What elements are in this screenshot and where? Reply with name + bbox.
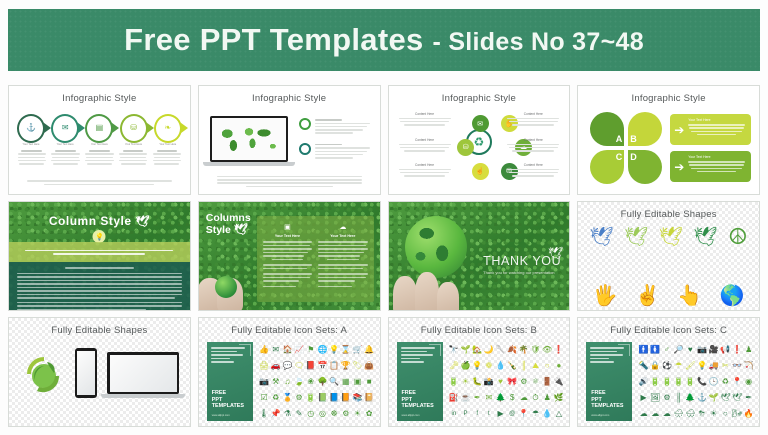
slide-thumbnail-infographic-recycle[interactable]: Infographic Style ♻ ✉ ✋ ⛁ ☁ ☝ ⛁ Content … xyxy=(388,85,571,195)
eco-globe-leaf-icon[interactable] xyxy=(23,354,63,394)
cloud3-icon[interactable]: ☁ xyxy=(640,410,648,418)
printer-icon[interactable]: 🖨 xyxy=(259,362,269,370)
wing-icon[interactable]: 🕊 xyxy=(732,394,742,402)
step-item[interactable]: ⛁ Your Text Here xyxy=(120,113,148,143)
sprout-icon[interactable]: 🌱 xyxy=(461,346,471,354)
header-banner: Free PPT Templates - Slides No 37~48 xyxy=(8,9,760,71)
bulb2-icon[interactable]: 💡 xyxy=(472,362,482,370)
open-hands-icon[interactable]: 🖐 xyxy=(593,283,618,308)
battery6-icon[interactable]: 🔋 xyxy=(685,378,695,386)
pointing-hand-icon[interactable]: 👆 xyxy=(677,283,702,308)
grid-icon[interactable]: ▦ xyxy=(342,378,350,386)
heart-icon[interactable]: ♥ xyxy=(498,378,503,386)
cloud-icon: ☁ xyxy=(318,223,367,231)
mail2-icon[interactable]: ✉ xyxy=(486,394,493,402)
tree2-icon[interactable]: 🌲 xyxy=(496,394,506,402)
book5-icon[interactable]: 📚 xyxy=(352,394,362,402)
chart-icon[interactable]: 📈 xyxy=(294,346,304,354)
clipboard-icon[interactable]: 📋 xyxy=(329,362,339,370)
laptop-icon xyxy=(210,116,288,166)
free-ppt-templates-label: FREEPPTTEMPLATES xyxy=(402,390,434,410)
storm-icon[interactable]: ⛈ xyxy=(699,410,705,418)
gear-icon[interactable]: ⚙ xyxy=(296,394,303,402)
free-ppt-panel: FREEPPTTEMPLATES www.allppt.com xyxy=(586,342,632,421)
content-box-1[interactable]: ➔ Your Text Here xyxy=(670,114,751,145)
mail-icon[interactable]: ✉ xyxy=(272,346,279,354)
pin-icon[interactable]: 📌 xyxy=(271,410,281,418)
hands-holding-globe-image xyxy=(198,262,257,311)
dove-icon: 🕊 xyxy=(135,216,149,228)
truck-icon[interactable]: 🚚 xyxy=(709,362,719,370)
megaphone-icon[interactable]: 📢 xyxy=(720,346,730,354)
slide-title: Fully Editable Shapes xyxy=(578,209,759,220)
thermometer-icon[interactable]: 🌡 xyxy=(259,410,269,418)
cloud4-icon[interactable]: ☁ xyxy=(651,410,659,418)
woman-icon[interactable]: 🚺 xyxy=(650,346,660,354)
trophy-icon[interactable]: 🏆 xyxy=(341,362,351,370)
slide-thumbnail-columns-style[interactable]: Columns Style 🕊 ▣ Your Text Here xyxy=(198,201,381,311)
step-description xyxy=(17,150,47,184)
lightbulb-icon[interactable]: 💡 xyxy=(329,346,339,354)
house-icon[interactable]: 🏡 xyxy=(472,346,482,354)
slide-footer-text xyxy=(217,176,362,189)
battery2-icon[interactable]: 🔋 xyxy=(449,378,459,386)
banner-title-sub: - Slides No 37~48 xyxy=(432,28,643,56)
slide-title: Columns Style 🕊 xyxy=(206,212,251,237)
bow-icon[interactable]: 🏹 xyxy=(744,362,754,370)
plant2-icon[interactable]: 🌱 xyxy=(709,394,719,402)
bag-icon[interactable]: 👜 xyxy=(364,362,374,370)
linkedin-icon[interactable]: in xyxy=(452,411,457,417)
icon-set-grid: 🔭 🌱 🏡 🌙 🥄 🍂 🌴 🛡 👁 ❗ 🗝 🍏 💡 ❁ 💧 🍾 ║ ⛰ ○ xyxy=(449,342,565,422)
slide-thumbnail-icon-sets-b[interactable]: Fully Editable Icon Sets: B FREEPPTTEMPL… xyxy=(388,317,571,427)
wind-icon[interactable]: 🌬 xyxy=(732,410,742,418)
magnifier-icon[interactable]: 🔎 xyxy=(674,346,684,354)
cup-icon[interactable]: ☕ xyxy=(461,394,471,402)
dove-light-green-icon[interactable]: 🕊 xyxy=(624,225,648,249)
play-circle-icon[interactable]: ◉ xyxy=(745,378,752,386)
corner-decoration xyxy=(618,344,630,356)
youtube-icon[interactable]: ▶ xyxy=(497,410,503,418)
corner-decoration xyxy=(429,344,441,356)
petal-b[interactable]: B xyxy=(628,112,662,146)
tree-icon[interactable]: 🌳 xyxy=(317,378,327,386)
gear2-icon[interactable]: ⚙ xyxy=(520,378,527,386)
funnel-icon[interactable]: ⚗ xyxy=(284,410,291,418)
apple-icon[interactable]: 🍏 xyxy=(461,362,471,370)
step-label: Your Text Here xyxy=(154,143,182,146)
step-description xyxy=(51,150,81,184)
template-preview-page: Free PPT Templates - Slides No 37~48 Inf… xyxy=(0,0,768,435)
panel-url: www.allppt.com xyxy=(402,414,420,417)
plant-icon[interactable]: 🌿 xyxy=(554,394,564,402)
moon2-icon[interactable]: ○ xyxy=(723,410,728,418)
book2-icon[interactable]: 📗 xyxy=(317,394,327,402)
mail-icon: ✉ xyxy=(62,124,69,132)
bullet-list xyxy=(299,118,370,168)
door-icon[interactable]: 🚪 xyxy=(542,378,552,386)
scissors-icon[interactable]: ✂ xyxy=(722,362,729,370)
flower2-icon[interactable]: ✿ xyxy=(366,410,373,418)
sun2-icon[interactable]: ☀ xyxy=(462,378,469,386)
pen-icon[interactable]: ✒ xyxy=(474,394,481,402)
corner-decoration xyxy=(239,344,251,356)
spoke-text: Content Here xyxy=(399,112,451,127)
fan-icon[interactable]: ❁ xyxy=(486,362,493,370)
step-item[interactable]: ❧ Your Text Here xyxy=(154,113,182,143)
drop-icon[interactable]: 💧 xyxy=(496,362,506,370)
step-item[interactable]: ✉ Your Text Here xyxy=(51,113,79,143)
laptop-icon[interactable] xyxy=(107,352,179,398)
column-icon[interactable]: ║ xyxy=(521,362,527,370)
hands-image xyxy=(389,264,469,311)
video-icon[interactable]: 🎥 xyxy=(709,346,719,354)
person-icon[interactable]: ♟ xyxy=(544,394,551,402)
ring-icon[interactable]: ● xyxy=(556,362,561,370)
book4-icon[interactable]: 📙 xyxy=(341,394,351,402)
calendar-icon[interactable]: 📅 xyxy=(317,362,327,370)
heart2-icon[interactable]: ♥ xyxy=(688,346,693,354)
slide-thumbnail-icon-sets-a[interactable]: Fully Editable Icon Sets: A FREEPPTTEMPL… xyxy=(198,317,381,427)
bubble-icon[interactable]: 🗨 xyxy=(294,362,304,370)
bottle-icon[interactable]: 🍾 xyxy=(507,362,517,370)
image-icon: ▣ xyxy=(263,223,312,231)
checkbox-icon[interactable]: ☑ xyxy=(261,394,268,402)
clover-diagram: A B C D xyxy=(590,112,662,184)
arrow-right-icon: ➔ xyxy=(674,124,684,136)
plug-icon[interactable]: 🔌 xyxy=(554,378,564,386)
column-heading: Your Text Here xyxy=(263,234,312,238)
dove-yellow-green-icon[interactable]: 🕊 xyxy=(659,225,683,249)
hourglass-icon[interactable]: ⌛ xyxy=(341,346,351,354)
alert-icon[interactable]: ❗ xyxy=(732,346,742,354)
ribbon-icon[interactable]: 🎀 xyxy=(507,378,517,386)
clock2-icon[interactable]: 🕒 xyxy=(709,378,719,386)
compass-icon[interactable]: ☸ xyxy=(331,410,338,418)
panel-url: www.allppt.com xyxy=(591,414,609,417)
slide-footer-text xyxy=(27,180,172,187)
play-icon[interactable]: ▶ xyxy=(641,394,647,402)
slide-title: Fully Editable Icon Sets: C xyxy=(578,325,759,336)
battery4-icon[interactable]: 🔋 xyxy=(662,378,672,386)
rain-icon[interactable]: 🌧 xyxy=(674,410,684,418)
cone-icon[interactable]: △ xyxy=(556,410,562,418)
column-heading: Your Text Here xyxy=(318,234,367,238)
spoke-icon[interactable]: ✉ xyxy=(472,115,489,132)
spoke-text: Content Here xyxy=(507,138,559,153)
lamp-icon[interactable]: 💡 xyxy=(697,362,707,370)
petal-a[interactable]: A xyxy=(590,112,624,146)
column-2: ☁ Your Text Here xyxy=(318,223,367,295)
wheel-icon[interactable]: ⚙ xyxy=(342,410,349,418)
eye-icon[interactable]: 👁 xyxy=(542,346,552,354)
slide-title: Fully Editable Icon Sets: A xyxy=(199,325,380,336)
snow-icon[interactable]: 🌨 xyxy=(685,410,695,418)
step-label: Your Text Here xyxy=(85,143,113,146)
spoke-text: Content Here xyxy=(507,163,559,178)
palm-icon[interactable]: 🌴 xyxy=(519,346,529,354)
step-label: Your Text Here xyxy=(120,143,148,146)
free-ppt-templates-label: FREEPPTTEMPLATES xyxy=(591,390,623,410)
atom-icon[interactable]: ⚛ xyxy=(532,378,539,386)
card-icon: ▤ xyxy=(96,124,104,132)
umbrella2-icon[interactable]: ☂ xyxy=(675,362,682,370)
step-description-row xyxy=(17,150,182,184)
thank-you-subtitle: Thank you for watching our presentation xyxy=(483,270,561,275)
sun3-icon[interactable]: ☀ xyxy=(710,410,717,418)
pillar-icon[interactable]: ║ xyxy=(676,394,682,402)
globe-icon[interactable]: 🌐 xyxy=(317,346,327,354)
slide-title: Column Style 🕊 xyxy=(9,214,190,228)
bird-icon[interactable]: 🕊 xyxy=(720,394,730,402)
free-ppt-panel: FREEPPTTEMPLATES www.allppt.com xyxy=(397,342,443,421)
column-1: ▣ Your Text Here xyxy=(263,223,312,295)
slide-thumbnail-infographic-steps[interactable]: Infographic Style ⚓ Your Text Here ✉ You… xyxy=(8,85,191,195)
spoke-icon[interactable]: ⛁ xyxy=(457,139,474,156)
camera3-icon[interactable]: 📷 xyxy=(697,346,707,354)
content-box-2[interactable]: ➔ Your Text Here xyxy=(670,151,751,182)
shield-icon[interactable]: 🛡 xyxy=(530,346,540,354)
recycle2-icon[interactable]: ♻ xyxy=(722,378,729,386)
slide-thumbnail-thank-you[interactable]: 🕊 THANK YOU Thank you for watching our p… xyxy=(388,201,571,311)
world-map-image xyxy=(215,121,283,157)
binoculars-icon[interactable]: 🔭 xyxy=(449,346,459,354)
slide-thumbnail-editable-shapes-doves[interactable]: Fully Editable Shapes 🕊 🕊 🕊 🕊 ☮ 🖐 ✌ 👆 🌎 xyxy=(577,201,760,311)
cloud2-icon[interactable]: ☁ xyxy=(520,394,528,402)
leaf2-icon[interactable]: 🍂 xyxy=(507,346,517,354)
slide-title: Fully Editable Icon Sets: B xyxy=(389,325,570,336)
clock-icon[interactable]: ◷ xyxy=(307,410,314,418)
panel-url: www.allppt.com xyxy=(212,414,230,417)
facebook-icon[interactable]: f xyxy=(476,411,478,417)
peace-wreath-icon[interactable]: ☮ xyxy=(728,224,748,250)
camera-icon[interactable]: 📷 xyxy=(259,378,269,386)
anchor-icon: ⚓ xyxy=(26,124,36,132)
bell-icon[interactable]: 🔔 xyxy=(364,346,374,354)
exclaim-icon[interactable]: ❗ xyxy=(554,346,564,354)
petal-d[interactable]: D xyxy=(628,150,662,184)
moon-icon[interactable]: 🌙 xyxy=(484,346,494,354)
battery5-icon[interactable]: 🔋 xyxy=(674,378,684,386)
square-icon[interactable]: ■ xyxy=(367,378,372,386)
body-text-block xyxy=(9,262,190,310)
hand-shape-row: 🖐 ✌ 👆 🌎 xyxy=(584,283,753,308)
dove-icon: 🕊 xyxy=(234,224,248,236)
step-chevron-row: ⚓ Your Text Here ✉ Your Text Here ▤ Your… xyxy=(17,112,182,144)
slide-thumbnail-infographic-clover[interactable]: Infographic Style A B C D xyxy=(577,85,760,195)
battery-icon[interactable]: 🔋 xyxy=(306,394,316,402)
slide-title: Fully Editable Shapes xyxy=(9,325,190,336)
circle-icon[interactable]: ○ xyxy=(545,362,550,370)
spoke-text: Content Here xyxy=(399,163,451,178)
step-item[interactable]: ⚓ Your Text Here xyxy=(17,113,45,143)
slide-thumbnail-icon-sets-c[interactable]: Fully Editable Icon Sets: C FREEPPTTEMPL… xyxy=(577,317,760,427)
map-pin-icon[interactable]: 📍 xyxy=(519,410,529,418)
flag-icon[interactable]: ⚑ xyxy=(307,346,314,354)
fire-icon[interactable]: 🔥 xyxy=(744,410,754,418)
image-icon[interactable]: 🖼 xyxy=(650,394,660,402)
pinterest-icon[interactable]: P xyxy=(464,411,468,417)
list-item[interactable] xyxy=(299,143,370,159)
camera2-icon[interactable]: 📸 xyxy=(484,378,494,386)
slide-thumbnail-infographic-laptop[interactable]: Infographic Style xyxy=(198,85,381,195)
twitter-icon[interactable]: t xyxy=(488,411,490,417)
step-description xyxy=(118,150,148,184)
cloud5-icon[interactable]: ☁ xyxy=(663,410,671,418)
peace-hand-icon[interactable]: ✌ xyxy=(635,283,660,308)
dove-blue-icon[interactable]: 🕊 xyxy=(590,225,614,249)
cart-icon[interactable]: 🛒 xyxy=(352,346,362,354)
book6-icon[interactable]: 📔 xyxy=(364,394,374,402)
spoke-text: Content Here xyxy=(507,112,559,127)
slide-thumbnail-editable-shapes-devices[interactable]: Fully Editable Shapes xyxy=(8,317,191,427)
spoon-icon[interactable]: 🥄 xyxy=(496,346,506,354)
slide-title: Infographic Style xyxy=(389,93,570,104)
droplet-icon[interactable]: 💧 xyxy=(542,410,552,418)
banner-title-main: Free PPT Templates xyxy=(124,22,423,57)
pencil-icon[interactable]: ✎ xyxy=(296,410,303,418)
thank-you-block: THANK YOU Thank you for watching our pre… xyxy=(483,254,561,275)
person2-icon[interactable]: ♟ xyxy=(745,346,752,354)
mountain-icon[interactable]: ⛰ xyxy=(532,362,539,370)
gender-icon[interactable]: ♂ xyxy=(664,346,670,354)
torch-icon[interactable]: 🔦 xyxy=(639,362,649,370)
free-ppt-panel: FREEPPTTEMPLATES www.allppt.com xyxy=(207,342,253,421)
step-label: Your Text Here xyxy=(17,143,45,146)
step-label: Your Text Here xyxy=(51,143,79,146)
leaf-icon: ❧ xyxy=(164,124,171,132)
arrow-right-icon: ➔ xyxy=(674,161,684,173)
at-icon[interactable]: @ xyxy=(509,411,515,417)
tank-icon[interactable]: ⛽ xyxy=(449,394,459,402)
brush-icon[interactable]: 🖌 xyxy=(685,362,695,370)
music-icon[interactable]: ♫ xyxy=(284,378,290,386)
circle-marker-icon xyxy=(299,118,311,130)
step-description xyxy=(85,150,115,184)
settings-icon[interactable]: ⚙ xyxy=(663,394,670,402)
car-icon[interactable]: 🚗 xyxy=(271,362,281,370)
home-icon[interactable]: 🏠 xyxy=(282,346,292,354)
flower-icon[interactable]: ❀ xyxy=(307,378,314,386)
battery3-icon[interactable]: 🔋 xyxy=(650,378,660,386)
hand-holding-earth-icon[interactable]: 🌎 xyxy=(719,283,744,308)
free-ppt-templates-label: FREEPPTTEMPLATES xyxy=(212,390,244,410)
lock-icon[interactable]: 🔒 xyxy=(650,362,660,370)
page-title: Free PPT Templates - Slides No 37~48 xyxy=(124,22,644,58)
tree3-icon[interactable]: 🌲 xyxy=(685,394,695,402)
green-globe-icon xyxy=(215,276,237,298)
ball-icon[interactable]: ⚽ xyxy=(662,362,672,370)
step-item[interactable]: ▤ Your Text Here xyxy=(85,113,113,143)
dollar-icon[interactable]: $ xyxy=(510,394,514,402)
timer-icon[interactable]: ⏱ xyxy=(532,394,538,402)
thank-you-title: THANK YOU xyxy=(483,254,561,268)
badge-icon[interactable]: 🏷 xyxy=(352,362,362,370)
chat-icon[interactable]: 💬 xyxy=(282,362,292,370)
spoke-icon[interactable]: ☝ xyxy=(472,163,489,180)
icon-set-grid: 🚹 🚺 ♂ 🔎 ♥ 📷 🎥 📢 ❗ ♟ 🔦 🔒 ⚽ ☂ 🖌 💡 🚚 ✂ 👓 xyxy=(638,342,754,422)
tools-icon[interactable]: ⚒ xyxy=(272,378,279,386)
window-icon[interactable]: ▣ xyxy=(354,378,362,386)
step-description xyxy=(152,150,182,184)
man-icon[interactable]: 🚹 xyxy=(639,346,649,354)
speaker-icon[interactable]: 🔊 xyxy=(639,378,649,386)
slide-title: Infographic Style xyxy=(199,93,380,104)
slide-thumbnail-column-style[interactable]: Column Style 🕊 💡 xyxy=(8,201,191,311)
smartphone-icon[interactable] xyxy=(75,348,97,398)
two-column-panel: ▣ Your Text Here ☁ Your Text Here xyxy=(257,216,374,302)
feather-icon[interactable]: ✒ xyxy=(745,394,752,402)
slide-title: Infographic Style xyxy=(9,93,190,104)
spoke-text: Content Here xyxy=(399,138,451,153)
slide-thumbnail-grid: Infographic Style ⚓ Your Text Here ✉ You… xyxy=(8,85,760,427)
slide-title: Infographic Style xyxy=(578,93,759,104)
umbrella-icon[interactable]: ☂ xyxy=(532,410,539,418)
sun-icon[interactable]: ☀ xyxy=(354,410,361,418)
circle-marker-icon xyxy=(299,143,311,155)
list-item[interactable] xyxy=(299,118,370,134)
book3-icon[interactable]: 📘 xyxy=(329,394,339,402)
key-icon[interactable]: 🗝 xyxy=(449,362,459,370)
thumbs-up-icon[interactable]: 👍 xyxy=(259,346,269,354)
highlight-band xyxy=(9,242,190,262)
phone-icon[interactable]: 📞 xyxy=(697,378,707,386)
search-icon[interactable]: 🔍 xyxy=(329,378,339,386)
book-icon[interactable]: 📕 xyxy=(306,362,316,370)
leaf-icon[interactable]: 🍃 xyxy=(294,378,304,386)
glasses-icon[interactable]: 👓 xyxy=(732,362,742,370)
trophy2-icon[interactable]: 🏅 xyxy=(282,394,292,402)
anchor-icon[interactable]: ⚓ xyxy=(697,394,707,402)
bag-icon: ⛁ xyxy=(130,124,137,132)
target-icon[interactable]: ◎ xyxy=(319,410,326,418)
icon-set-grid: 👍 ✉ 🏠 📈 ⚑ 🌐 💡 ⌛ 🛒 🔔 🖨 🚗 💬 🗨 📕 📅 📋 🏆 🏷 xyxy=(259,342,375,422)
pin2-icon[interactable]: 📍 xyxy=(732,378,742,386)
recycle-icon[interactable]: ♻ xyxy=(272,394,279,402)
bug-icon[interactable]: 🐛 xyxy=(472,378,482,386)
petal-c[interactable]: C xyxy=(590,150,624,184)
dove-shape-row: 🕊 🕊 🕊 🕊 ☮ xyxy=(584,224,753,250)
dove-dark-green-icon[interactable]: 🕊 xyxy=(693,225,717,249)
